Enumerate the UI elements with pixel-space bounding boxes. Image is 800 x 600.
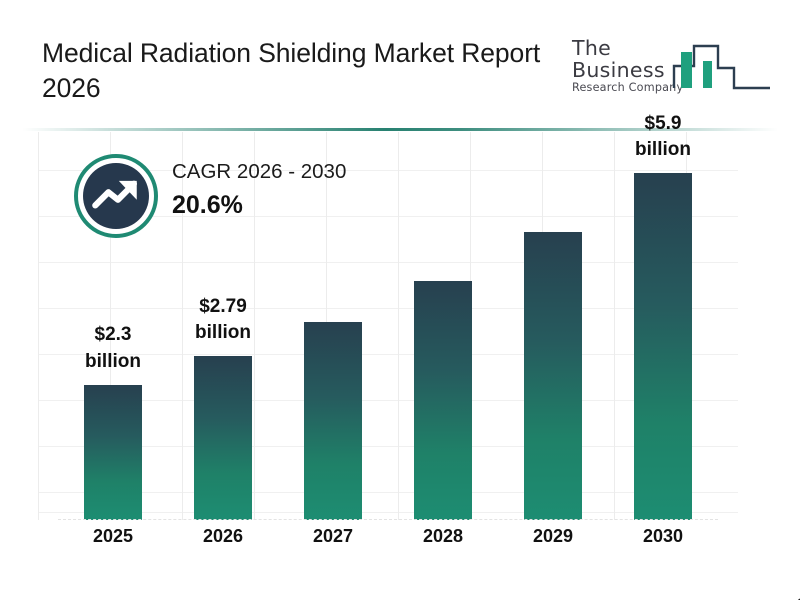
cagr-value: 20.6% [172, 192, 346, 220]
x-tick-2028: 2028 [388, 526, 498, 547]
x-tick-2026: 2026 [168, 526, 278, 547]
x-tick-2030: 2030 [608, 526, 718, 547]
bar-label-unit: billion [163, 320, 283, 346]
cagr-circle [74, 154, 158, 238]
bar-label-2025: $2.3billion [53, 322, 173, 374]
bar-label-value: $5.9 [603, 111, 723, 137]
page-title: Medical Radiation Shielding Market Repor… [42, 36, 542, 106]
chart-slide: Medical Radiation Shielding Market Repor… [0, 0, 800, 600]
bar-2029[interactable] [524, 232, 582, 520]
bar-slot: $5.9billion [608, 132, 718, 520]
x-tick-2027: 2027 [278, 526, 388, 547]
trending-up-arrow-icon [83, 163, 149, 229]
cagr-badge: CAGR 2026 - 2030 20.6% [74, 152, 404, 247]
bar-label-unit: billion [603, 137, 723, 163]
bar-slot [498, 132, 608, 520]
bar-2030[interactable] [634, 173, 692, 520]
bar-2026[interactable] [194, 356, 252, 520]
x-tick-2029: 2029 [498, 526, 608, 547]
bar-2025[interactable] [84, 385, 142, 520]
bar-label-value: $2.3 [53, 322, 173, 348]
bar-2027[interactable] [304, 322, 362, 520]
bar-slot [388, 132, 498, 520]
company-logo: The Business Research Company [572, 28, 772, 100]
cagr-period-label: CAGR 2026 - 2030 [172, 160, 346, 185]
bar-2028[interactable] [414, 281, 472, 520]
bar-label-2030: $5.9billion [603, 111, 723, 163]
bar-chart-logo-mark [672, 28, 772, 98]
x-tick-2025: 2025 [58, 526, 168, 547]
y-axis-title: Market Size (in USD Billion) [794, 545, 800, 600]
header: Medical Radiation Shielding Market Repor… [0, 0, 800, 120]
x-axis-labels: 202520262027202820292030 [58, 526, 718, 560]
bar-label-value: $2.79 [163, 294, 283, 320]
bar-label-unit: billion [53, 349, 173, 375]
axis-baseline [58, 519, 718, 520]
cagr-text: CAGR 2026 - 2030 20.6% [172, 160, 346, 219]
bar-label-2026: $2.79billion [163, 294, 283, 346]
